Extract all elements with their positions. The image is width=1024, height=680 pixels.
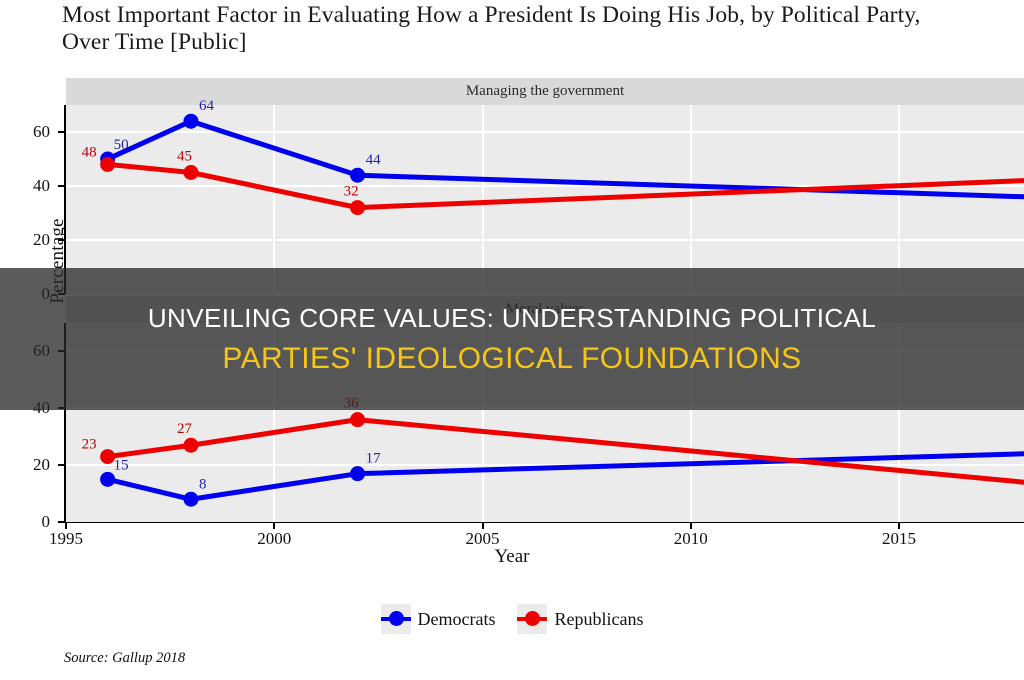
- series-lines-panel-1: 50644448453242: [66, 105, 1024, 294]
- data-label-republicans: 23: [82, 437, 97, 453]
- legend-key-icon: [381, 604, 411, 634]
- overlay-title-banner: UNVEILING CORE VALUES: UNDERSTANDING POL…: [0, 268, 1024, 410]
- legend-label: Republicans: [554, 609, 643, 630]
- x-tick-label: 2005: [453, 529, 513, 549]
- y-tick-label: 20: [16, 455, 50, 475]
- y-tick-mark: [58, 464, 65, 466]
- data-label-republicans: 32: [344, 184, 359, 200]
- data-label-republicans: 45: [177, 149, 192, 165]
- y-tick-label: 20: [16, 230, 50, 250]
- legend-key-icon: [517, 604, 547, 634]
- x-tick-mark: [898, 522, 900, 529]
- facet-panel-1: 50644448453242: [66, 105, 1024, 294]
- x-tick-mark: [690, 522, 692, 529]
- series-line-republicans: [108, 420, 1024, 483]
- data-label-republicans: 48: [82, 144, 97, 160]
- y-tick-mark: [58, 521, 65, 523]
- legend-item-democrats[interactable]: Democrats: [381, 604, 496, 634]
- x-axis-title: Year: [0, 546, 1024, 568]
- x-tick-label: 1995: [36, 529, 96, 549]
- y-tick-mark: [58, 131, 65, 133]
- x-tick-mark: [65, 522, 67, 529]
- x-tick-label: 2000: [244, 529, 304, 549]
- data-label-democrats: 44: [366, 152, 382, 168]
- data-point-republicans[interactable]: [350, 200, 365, 215]
- x-tick-mark: [482, 522, 484, 529]
- series-line-democrats: [108, 454, 1024, 499]
- y-tick-mark: [58, 239, 65, 241]
- series-line-republicans: [108, 164, 1024, 207]
- overlay-headline: UNVEILING CORE VALUES: UNDERSTANDING POL…: [148, 303, 876, 334]
- x-tick-label: 2010: [661, 529, 721, 549]
- y-tick-mark: [58, 185, 65, 187]
- data-point-democrats[interactable]: [183, 114, 198, 129]
- data-point-republicans[interactable]: [183, 438, 198, 453]
- y-tick-label: 60: [16, 122, 50, 142]
- y-tick-label: 40: [16, 176, 50, 196]
- data-label-democrats: 50: [114, 137, 129, 153]
- data-label-republicans: 27: [177, 421, 193, 437]
- x-tick-mark: [273, 522, 275, 529]
- legend-label: Democrats: [418, 609, 496, 630]
- data-label-democrats: 15: [114, 457, 129, 473]
- data-label-democrats: 64: [199, 98, 215, 114]
- data-point-democrats[interactable]: [350, 168, 365, 183]
- x-tick-label: 2015: [869, 529, 929, 549]
- source-note: Source: Gallup 2018: [64, 650, 185, 667]
- legend-item-republicans[interactable]: Republicans: [517, 604, 643, 634]
- data-point-democrats[interactable]: [183, 492, 198, 507]
- data-label-democrats: 17: [366, 451, 382, 467]
- data-point-democrats[interactable]: [350, 466, 365, 481]
- data-point-republicans[interactable]: [350, 412, 365, 427]
- data-label-democrats: 8: [199, 476, 207, 492]
- chart-legend: DemocratsRepublicans: [0, 604, 1024, 634]
- data-point-republicans[interactable]: [183, 165, 198, 180]
- overlay-subheadline: PARTIES' IDEOLOGICAL FOUNDATIONS: [222, 342, 801, 376]
- data-point-republicans[interactable]: [100, 157, 115, 172]
- data-point-democrats[interactable]: [100, 472, 115, 487]
- facet-managing-the-government: Managing the government 50644448453242: [66, 78, 1024, 294]
